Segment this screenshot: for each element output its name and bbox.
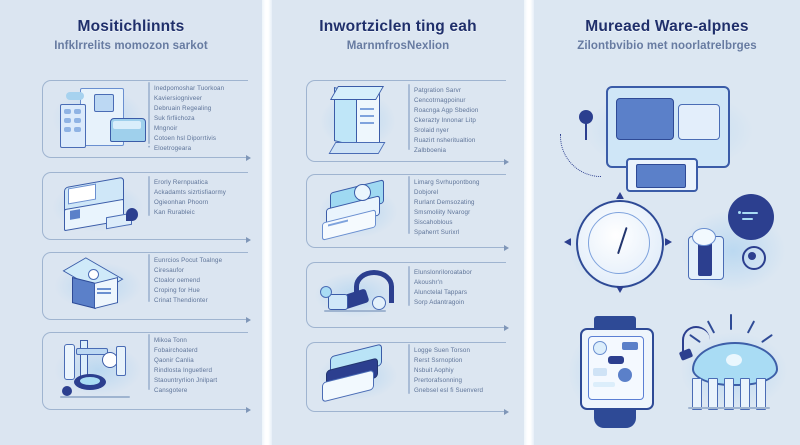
row-left-3-bullets: Eunrcios Pocut Toalnge Ciresaufor Ctoalo… — [154, 256, 222, 306]
list-item: Staountryrlion Jnilpart — [154, 376, 217, 386]
row-left-4-bullets: Mikoa Tonn Fobairchoaterd Qaonir Canlia … — [154, 336, 217, 396]
list-item: Gnebsel esl fi Suenverd — [414, 386, 483, 396]
list-item: Rurlant Demsozating — [414, 198, 480, 208]
list-item: Eunrcios Pocut Toalnge — [154, 256, 222, 266]
row-left-1: Inedpomoshar Tuorkoan Kaviersiogniveer D… — [22, 78, 250, 160]
list-item: Erorly Rernpuatica — [154, 178, 226, 188]
row-mid-2-bullets: Limarg Svrhupontbong Dobjorel Rurlant De… — [414, 178, 480, 238]
panel-middle-header: Inwortziclen ting eah MarnmfrosNexlion — [272, 18, 524, 52]
stacked-sheets-icon — [316, 344, 400, 408]
list-item: Dobjorel — [414, 188, 480, 198]
row-mid-4: Logge Suen Torson Rerst Ssrnoption Nsbui… — [290, 340, 510, 416]
list-item: Zalbboenia — [414, 146, 478, 156]
list-item: Spaherrt Surixrl — [414, 228, 480, 238]
list-item: Srolaid nyer — [414, 126, 478, 136]
row-left-2-bullets: Erorly Rernpuatica Ackadamts sizrtisfiao… — [154, 178, 226, 218]
row-left-4: Mikoa Tonn Fobairchoaterd Qaonir Canlia … — [22, 330, 250, 416]
monitor-and-laptop-icon — [564, 78, 764, 186]
list-item: Inedpomoshar Tuorkoan — [154, 84, 224, 94]
list-item: Eloetrogeara — [154, 144, 224, 154]
list-item: Akoushr'n — [414, 278, 472, 288]
cloud-network-icon — [674, 308, 794, 434]
list-item: Ciresaufor — [154, 266, 222, 276]
list-item: Ackadamts sizrtisfiaormy — [154, 188, 226, 198]
list-item: Nsbuit Aophiy — [414, 366, 483, 376]
list-item: Crinat Thendionter — [154, 296, 222, 306]
list-item: Rerst Ssrnoption — [414, 356, 483, 366]
row-left-3: Eunrcios Pocut Toalnge Ciresaufor Ctoalo… — [22, 250, 250, 324]
list-item: Fobairchoaterd — [154, 346, 217, 356]
row-mid-3-bullets: Elunslonriloroatabor Akoushr'n Alunctela… — [414, 268, 472, 308]
panel-middle-title: Inwortziclen ting eah — [272, 18, 524, 35]
row-mid-2: Limarg Svrhupontbong Dobjorel Rurlant De… — [290, 172, 510, 252]
list-item: Ruazirt nsheritualtion — [414, 136, 478, 146]
list-item: Mikoa Tonn — [154, 336, 217, 346]
list-item: Limarg Svrhupontbong — [414, 178, 480, 188]
panel-middle: Inwortziclen ting eah MarnmfrosNexlion P… — [272, 0, 524, 445]
list-item: Sorp Adantragoin — [414, 298, 472, 308]
list-item: Cansgotere — [154, 386, 217, 396]
list-item: Kaviersiogniveer — [154, 94, 224, 104]
list-item: Kan Rurableic — [154, 208, 226, 218]
panel-left-header: Mositichlinnts Infklrrelits momozon sark… — [0, 18, 262, 52]
list-item: Cotoen hsl Diporrtivis — [154, 134, 224, 144]
smartwatch-icon — [560, 310, 670, 434]
panel-left-title: Mositichlinnts — [0, 18, 262, 35]
panel-right: Mureaed Ware-alpnes Zilontbvibio met noo… — [534, 0, 800, 445]
row-left-2: Erorly Rernpuatica Ackadamts sizrtisfiao… — [22, 170, 250, 244]
cube-box-icon — [50, 254, 146, 316]
list-item: Qaonir Canlia — [154, 356, 217, 366]
server-rack-icon — [316, 84, 400, 160]
list-item: Rindlosta Inguetlerd — [154, 366, 217, 376]
panel-right-header: Mureaed Ware-alpnes Zilontbvibio met noo… — [534, 18, 800, 52]
panel-right-subtitle: Zilontbvibio met noorlatrelbrges — [534, 40, 800, 52]
list-item: Smsmoliity Nvarogr — [414, 208, 480, 218]
list-item: Ctoalor oemend — [154, 276, 222, 286]
row-mid-3: Elunslonriloroatabor Akoushr'n Alunctela… — [290, 260, 510, 334]
row-left-1-bullets: Inedpomoshar Tuorkoan Kaviersiogniveer D… — [154, 84, 224, 154]
list-item: Elunslonriloroatabor — [414, 268, 472, 278]
printer-device-icon — [50, 174, 146, 236]
list-item: Suk firfiichoza — [154, 114, 224, 124]
robotic-arm-icon — [312, 264, 402, 326]
panel-divider-2 — [524, 0, 534, 445]
panel-divider-1 — [262, 0, 272, 445]
list-item: Mngnoir — [154, 124, 224, 134]
list-item: Cencotrnagpoinur — [414, 96, 478, 106]
layered-docs-icon — [316, 178, 400, 244]
panel-left-subtitle: Infklrrelits momozon sarkot — [0, 40, 262, 52]
panel-right-title: Mureaed Ware-alpnes — [534, 18, 800, 35]
infographic-canvas: Mositichlinnts Infklrrelits momozon sark… — [0, 0, 800, 445]
list-item: Siscahoblous — [414, 218, 480, 228]
panel-left: Mositichlinnts Infklrrelits momozon sark… — [0, 0, 262, 445]
network-badge-icon — [674, 190, 794, 308]
list-item: Croping for Hue — [154, 286, 222, 296]
list-item: Patgration Sarvr — [414, 86, 478, 96]
list-item: Debruain Regealing — [154, 104, 224, 114]
row-mid-1: Patgration Sarvr Cencotrnagpoinur Roacng… — [290, 78, 510, 164]
panel-middle-subtitle: MarnmfrosNexlion — [272, 40, 524, 52]
list-item: Roacnga Agp Sbedion — [414, 106, 478, 116]
list-item: Ckerazty Innonar Litp — [414, 116, 478, 126]
compass-gauge-icon — [564, 192, 674, 302]
list-item: Logge Suen Torson — [414, 346, 483, 356]
list-item: Ogieonhan Phoorn — [154, 198, 226, 208]
row-mid-4-bullets: Logge Suen Torson Rerst Ssrnoption Nsbui… — [414, 346, 483, 396]
row-mid-1-bullets: Patgration Sarvr Cencotrnagpoinur Roacng… — [414, 86, 478, 156]
list-item: Alunctelal Tappars — [414, 288, 472, 298]
list-item: Prertorafsonning — [414, 376, 483, 386]
factory-building-icon — [50, 82, 146, 154]
lab-equipment-icon — [50, 334, 146, 406]
